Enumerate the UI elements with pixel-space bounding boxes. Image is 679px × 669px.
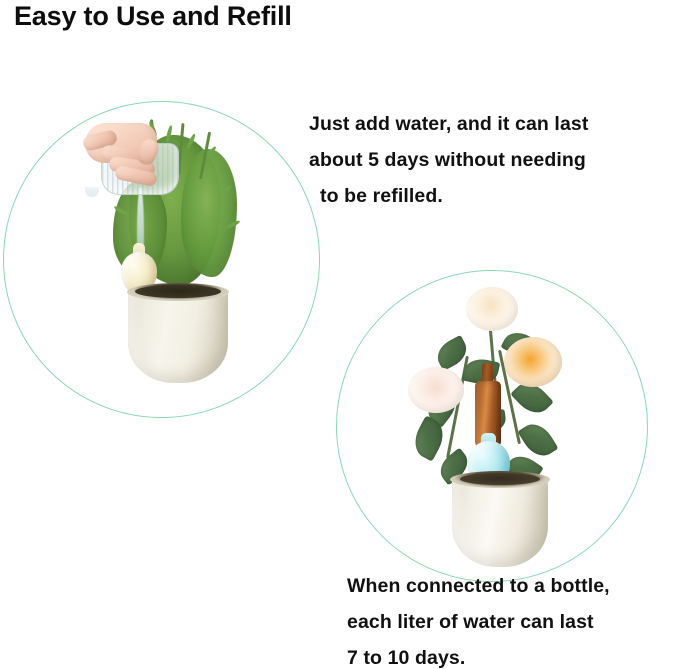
rose-leaf [517,418,558,462]
caption-bottom-line-1: When connected to a bottle, [347,568,610,604]
caption-top-line-1: Just add water, and it can last [309,106,588,142]
photo-hand-watering-rosemary [55,115,270,415]
caption-bottom-line-3: 7 to 10 days. [347,640,610,669]
product-infographic: Easy to Use and Refill [0,0,679,669]
caption-top-line-2: about 5 days without needing [309,142,588,178]
ceramic-pot [452,475,548,567]
rose-bloom-top [466,287,518,331]
caption-bottom: When connected to a bottle, each liter o… [347,568,610,669]
rose-bloom-left [408,367,464,413]
pot-soil [135,285,221,298]
photo-roses-with-bottle [380,285,610,570]
caption-bottom-line-2: each liter of water can last [347,604,610,640]
pot-soil [460,473,540,485]
foliage-right [181,149,237,277]
caption-top: Just add water, and it can last about 5 … [309,106,588,214]
caption-top-line-3: to be refilled. [309,178,588,214]
rose-bloom-right [504,337,562,387]
hand [83,121,181,189]
page-title: Easy to Use and Refill [14,1,292,32]
ceramic-pot [128,287,228,383]
